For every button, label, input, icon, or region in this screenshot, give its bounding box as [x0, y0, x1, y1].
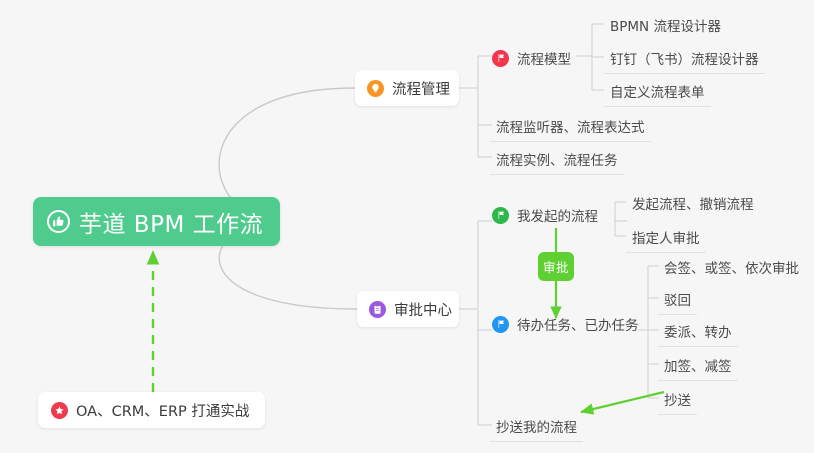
node-approval-center[interactable]: 审批中心: [357, 291, 459, 327]
node-start-cancel[interactable]: 发起流程、撤销流程: [626, 190, 760, 218]
node-todo-done[interactable]: 待办任务、已办任务: [492, 311, 645, 339]
node-my-initiated[interactable]: 我发起的流程: [492, 202, 604, 230]
node-process-management-label: 流程管理: [392, 78, 450, 99]
node-dingtalk-feishu-designer[interactable]: 钉钉（飞书）流程设计器: [604, 45, 765, 74]
node-dingtalk-feishu-designer-label: 钉钉（飞书）流程设计器: [610, 52, 759, 68]
node-multi-sign-label: 会签、或签、依次审批: [664, 261, 799, 277]
node-cc[interactable]: 抄送: [658, 386, 697, 415]
approval-badge-label: 审批: [543, 257, 569, 276]
flag-icon: [492, 50, 509, 67]
node-delegate-transfer[interactable]: 委派、转办: [658, 318, 738, 347]
node-bpmn-designer-label: BPMN 流程设计器: [610, 19, 721, 35]
node-delegate-transfer-label: 委派、转办: [664, 325, 732, 341]
node-approval-center-label: 审批中心: [394, 299, 452, 320]
node-start-cancel-label: 发起流程、撤销流程: [632, 197, 754, 213]
node-integration-note[interactable]: OA、CRM、ERP 打通实战: [38, 392, 265, 428]
node-add-remove-sign[interactable]: 加签、减签: [658, 352, 738, 381]
node-reject-label: 驳回: [664, 293, 691, 309]
node-cc-label: 抄送: [664, 393, 691, 409]
node-custom-process-form-label: 自定义流程表单: [610, 85, 705, 101]
node-cc-to-me-label: 抄送我的流程: [496, 420, 577, 436]
node-assignee-approve-label: 指定人审批: [632, 231, 700, 247]
approval-badge[interactable]: 审批: [538, 252, 574, 281]
clipboard-icon: [369, 301, 386, 318]
node-process-model-label: 流程模型: [517, 48, 571, 68]
thumbs-up-icon: [47, 210, 70, 233]
node-assignee-approve[interactable]: 指定人审批: [626, 224, 706, 253]
node-integration-note-label: OA、CRM、ERP 打通实战: [76, 400, 249, 421]
root-label: 芋道 BPM 工作流: [79, 205, 263, 239]
node-multi-sign[interactable]: 会签、或签、依次审批: [658, 254, 805, 282]
node-add-remove-sign-label: 加签、减签: [664, 359, 732, 375]
mindmap-canvas: 芋道 BPM 工作流 流程管理 流程模型 BPMN 流程设计器 钉钉（飞书）流程…: [0, 0, 814, 453]
flag-icon: [492, 316, 509, 333]
node-instance-task[interactable]: 流程实例、流程任务: [490, 146, 624, 175]
node-process-management[interactable]: 流程管理: [355, 70, 459, 106]
root-node[interactable]: 芋道 BPM 工作流: [33, 197, 280, 246]
star-icon: [51, 402, 68, 419]
node-instance-task-label: 流程实例、流程任务: [496, 153, 618, 169]
flag-icon: [492, 207, 509, 224]
node-custom-process-form[interactable]: 自定义流程表单: [604, 78, 711, 107]
node-process-model[interactable]: 流程模型: [492, 45, 577, 73]
node-listener-expression[interactable]: 流程监听器、流程表达式: [490, 113, 651, 142]
node-cc-to-me[interactable]: 抄送我的流程: [490, 413, 583, 442]
lightbulb-icon: [367, 80, 384, 97]
node-bpmn-designer[interactable]: BPMN 流程设计器: [604, 12, 727, 40]
node-todo-done-label: 待办任务、已办任务: [517, 314, 639, 334]
node-my-initiated-label: 我发起的流程: [517, 205, 598, 225]
arrow-cc-to-cc-mine: [581, 392, 664, 412]
node-listener-expression-label: 流程监听器、流程表达式: [496, 120, 645, 136]
node-reject[interactable]: 驳回: [658, 286, 697, 315]
